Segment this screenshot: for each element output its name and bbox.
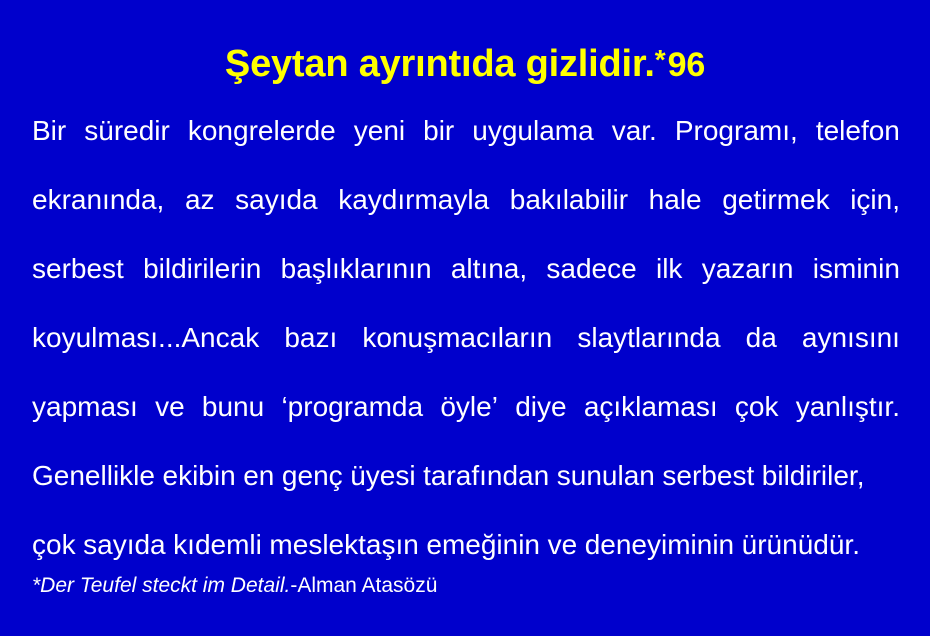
body-word: yanlıştır. — [796, 372, 900, 441]
body-word: kaydırmayla — [338, 165, 489, 234]
body-word: diye — [515, 372, 566, 441]
slide-title-text: Şeytan ayrıntıda gizlidir. — [225, 43, 655, 85]
body-word: süredir — [84, 96, 170, 165]
body-word: ve — [548, 510, 578, 579]
body-word: ekranında, — [32, 165, 164, 234]
body-word: tarafından — [423, 441, 549, 510]
body-line: Genellikleekibinengençüyesitarafındansun… — [32, 441, 900, 510]
body-word: genç — [282, 441, 343, 510]
body-word: Programı, — [675, 96, 798, 165]
body-word: var. — [612, 96, 657, 165]
slide-title: Şeytan ayrıntıda gizlidir.*96 — [0, 38, 930, 87]
body-word: Genellikle — [32, 441, 155, 510]
body-word: ilk — [656, 234, 682, 303]
footnote-attribution: -Alman Atasözü — [290, 574, 437, 597]
body-word: slaytlarında — [577, 303, 720, 372]
body-word: bakılabilir — [510, 165, 628, 234]
body-word: sayıda — [83, 510, 166, 579]
body-line: Birsüredirkongrelerdeyenibiruygulamavar.… — [32, 96, 900, 165]
body-word: için, — [850, 165, 900, 234]
slide-footnote: *Der Teufel steckt im Detail.-Alman Atas… — [32, 572, 437, 600]
body-word: sunulan — [557, 441, 655, 510]
slide-body-text: Birsüredirkongrelerdeyenibiruygulamavar.… — [32, 96, 900, 579]
body-word: bazı — [284, 303, 337, 372]
footnote-marker: * — [655, 44, 666, 75]
body-line: serbestbildirilerinbaşlıklarınınaltına,s… — [32, 234, 900, 303]
body-word: sayıda — [235, 165, 318, 234]
body-word: bir — [423, 96, 454, 165]
body-word: çok — [32, 510, 76, 579]
body-word: serbest — [662, 441, 754, 510]
body-word: da — [746, 303, 777, 372]
body-word: az — [185, 165, 215, 234]
body-word: çok — [735, 372, 779, 441]
body-word: en — [243, 441, 274, 510]
body-word: bildiriler, — [762, 441, 865, 510]
body-word: isminin — [813, 234, 900, 303]
body-word: öyle’ — [440, 372, 498, 441]
body-word: yazarın — [702, 234, 794, 303]
body-word: yeni — [354, 96, 405, 165]
body-word: hale — [649, 165, 702, 234]
body-word: başlıklarının — [281, 234, 432, 303]
slide-canvas: Şeytan ayrıntıda gizlidir.*96 Birsüredir… — [0, 0, 930, 636]
body-word: bildirilerin — [143, 234, 261, 303]
body-word: kıdemli — [173, 510, 262, 579]
body-word: serbest — [32, 234, 124, 303]
body-line: ekranında,azsayıdakaydırmaylabakılabilir… — [32, 165, 900, 234]
body-word: ürünüdür. — [742, 510, 860, 579]
body-line: koyulması...Ancakbazıkonuşmacılarınslayt… — [32, 303, 900, 372]
body-word: konuşmacıların — [362, 303, 552, 372]
body-word: sadece — [546, 234, 636, 303]
body-word: bunu — [202, 372, 264, 441]
body-line: yapmasıvebunu‘programdaöyle’diyeaçıklama… — [32, 372, 900, 441]
body-word: ekibin — [163, 441, 236, 510]
body-word: deneyiminin — [585, 510, 734, 579]
body-line: çoksayıdakıdemlimeslektaşınemeğininveden… — [32, 510, 900, 579]
footnote-proverb: *Der Teufel steckt im Detail. — [32, 574, 290, 597]
body-word: getirmek — [722, 165, 829, 234]
body-word: ve — [155, 372, 185, 441]
body-word: yapması — [32, 372, 138, 441]
body-word: kongrelerde — [188, 96, 336, 165]
body-word: açıklaması — [584, 372, 718, 441]
body-word: meslektaşın — [269, 510, 418, 579]
reference-number: 96 — [668, 46, 705, 84]
body-word: altına, — [451, 234, 527, 303]
body-word: emeğinin — [426, 510, 540, 579]
body-word: Bir — [32, 96, 66, 165]
body-word: aynısını — [802, 303, 900, 372]
body-word: uygulama — [472, 96, 593, 165]
body-word: üyesi — [350, 441, 415, 510]
body-word: ‘programda — [281, 372, 423, 441]
body-word: telefon — [816, 96, 900, 165]
body-word: koyulması...Ancak — [32, 303, 259, 372]
